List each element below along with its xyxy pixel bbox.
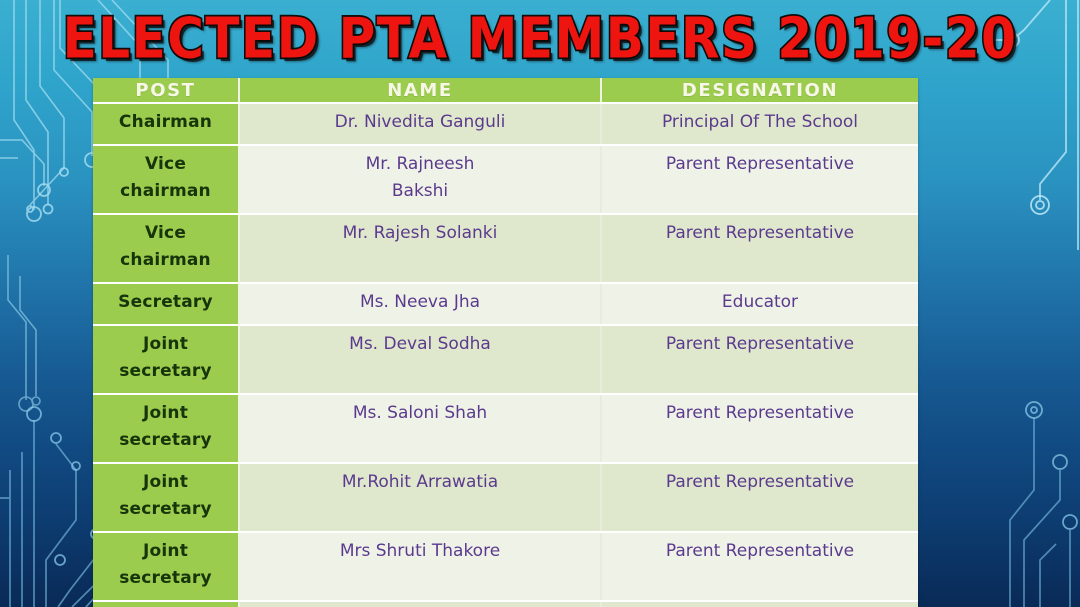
cell-designation: Principal Of The School bbox=[601, 103, 918, 145]
cell-post: Jointsecretary bbox=[93, 325, 239, 394]
page-title: ELECTED PTA MEMBERS 2019-20 bbox=[63, 6, 1018, 71]
title-container: ELECTED PTA MEMBERS 2019-20 bbox=[0, 6, 1080, 64]
cell-post-line: Vice bbox=[99, 151, 232, 178]
cell-post-line: Joint bbox=[99, 538, 232, 565]
cell-post-line: Joint bbox=[99, 331, 232, 358]
cell-designation: Parent Representative bbox=[601, 325, 918, 394]
cell-name: Mr.Rohit Arrawatia bbox=[239, 463, 601, 532]
cell-post-line: Joint bbox=[99, 469, 232, 496]
table-row: VicechairmanMr. RajneeshBakshiParent Rep… bbox=[93, 145, 918, 214]
cell-post: Vicechairman bbox=[93, 145, 239, 214]
cell-name: Mr. Rajesh Solanki bbox=[239, 214, 601, 283]
cell-post: Jointsecretary bbox=[93, 532, 239, 601]
cell-name: Dr. Nivedita Ganguli bbox=[239, 103, 601, 145]
table-header: POST NAME DESIGNATION bbox=[93, 78, 918, 103]
table-header-row: POST NAME DESIGNATION bbox=[93, 78, 918, 103]
cell-post: Jointsecretary bbox=[93, 463, 239, 532]
cell-post: Jointsecretary bbox=[93, 394, 239, 463]
cell-post-line: Chairman bbox=[99, 109, 232, 136]
cell-post-line: chairman bbox=[99, 247, 232, 274]
cell-name: Ms. Saloni Shah bbox=[239, 394, 601, 463]
cell-post: Jointsecretary bbox=[93, 601, 239, 607]
cell-name-line: Ms. Neeva Jha bbox=[246, 289, 594, 316]
cell-designation: Educator bbox=[601, 283, 918, 325]
cell-post-line: secretary bbox=[99, 565, 232, 592]
cell-post: Vicechairman bbox=[93, 214, 239, 283]
table-row: JointsecretaryMs .Ruchita DesaiParent Re… bbox=[93, 601, 918, 607]
table-row: JointsecretaryMs. Saloni ShahParent Repr… bbox=[93, 394, 918, 463]
cell-name-line: Mr.Rohit Arrawatia bbox=[246, 469, 594, 496]
cell-name-line: Bakshi bbox=[246, 178, 594, 205]
table-row: SecretaryMs. Neeva JhaEducator bbox=[93, 283, 918, 325]
cell-name: Ms .Ruchita Desai bbox=[239, 601, 601, 607]
cell-post-line: Secretary bbox=[99, 289, 232, 316]
cell-name: Ms. Deval Sodha bbox=[239, 325, 601, 394]
cell-post: Chairman bbox=[93, 103, 239, 145]
cell-post-line: chairman bbox=[99, 178, 232, 205]
pta-members-table: POST NAME DESIGNATION ChairmanDr. Nivedi… bbox=[93, 78, 918, 607]
cell-name-line: Dr. Nivedita Ganguli bbox=[246, 109, 594, 136]
cell-post-line: Vice bbox=[99, 220, 232, 247]
column-header-post: POST bbox=[93, 78, 239, 103]
cell-name: Mrs Shruti Thakore bbox=[239, 532, 601, 601]
cell-post: Secretary bbox=[93, 283, 239, 325]
cell-name-line: Ms. Saloni Shah bbox=[246, 400, 594, 427]
cell-designation: Parent Representative bbox=[601, 394, 918, 463]
cell-post-line: secretary bbox=[99, 358, 232, 385]
cell-designation: Parent Representative bbox=[601, 463, 918, 532]
cell-designation: Parent Representative bbox=[601, 145, 918, 214]
table-row: JointsecretaryMrs Shruti ThakoreParent R… bbox=[93, 532, 918, 601]
cell-name-line: Mr. Rajesh Solanki bbox=[246, 220, 594, 247]
cell-name-line: Mrs Shruti Thakore bbox=[246, 538, 594, 565]
table-body: ChairmanDr. Nivedita GanguliPrincipal Of… bbox=[93, 103, 918, 607]
table-row: ChairmanDr. Nivedita GanguliPrincipal Of… bbox=[93, 103, 918, 145]
column-header-designation: DESIGNATION bbox=[601, 78, 918, 103]
cell-post-line: secretary bbox=[99, 496, 232, 523]
cell-designation: Parent Representative bbox=[601, 601, 918, 607]
presentation-slide: ELECTED PTA MEMBERS 2019-20 POST NAME DE… bbox=[0, 0, 1080, 607]
cell-designation: Parent Representative bbox=[601, 532, 918, 601]
table-row: VicechairmanMr. Rajesh SolankiParent Rep… bbox=[93, 214, 918, 283]
table-row: JointsecretaryMs. Deval SodhaParent Repr… bbox=[93, 325, 918, 394]
cell-post-line: Joint bbox=[99, 400, 232, 427]
cell-name: Mr. RajneeshBakshi bbox=[239, 145, 601, 214]
cell-name: Ms. Neeva Jha bbox=[239, 283, 601, 325]
cell-designation: Parent Representative bbox=[601, 214, 918, 283]
cell-name-line: Mr. Rajneesh bbox=[246, 151, 594, 178]
table-row: JointsecretaryMr.Rohit ArrawatiaParent R… bbox=[93, 463, 918, 532]
column-header-name: NAME bbox=[239, 78, 601, 103]
cell-name-line: Ms. Deval Sodha bbox=[246, 331, 594, 358]
cell-post-line: secretary bbox=[99, 427, 232, 454]
